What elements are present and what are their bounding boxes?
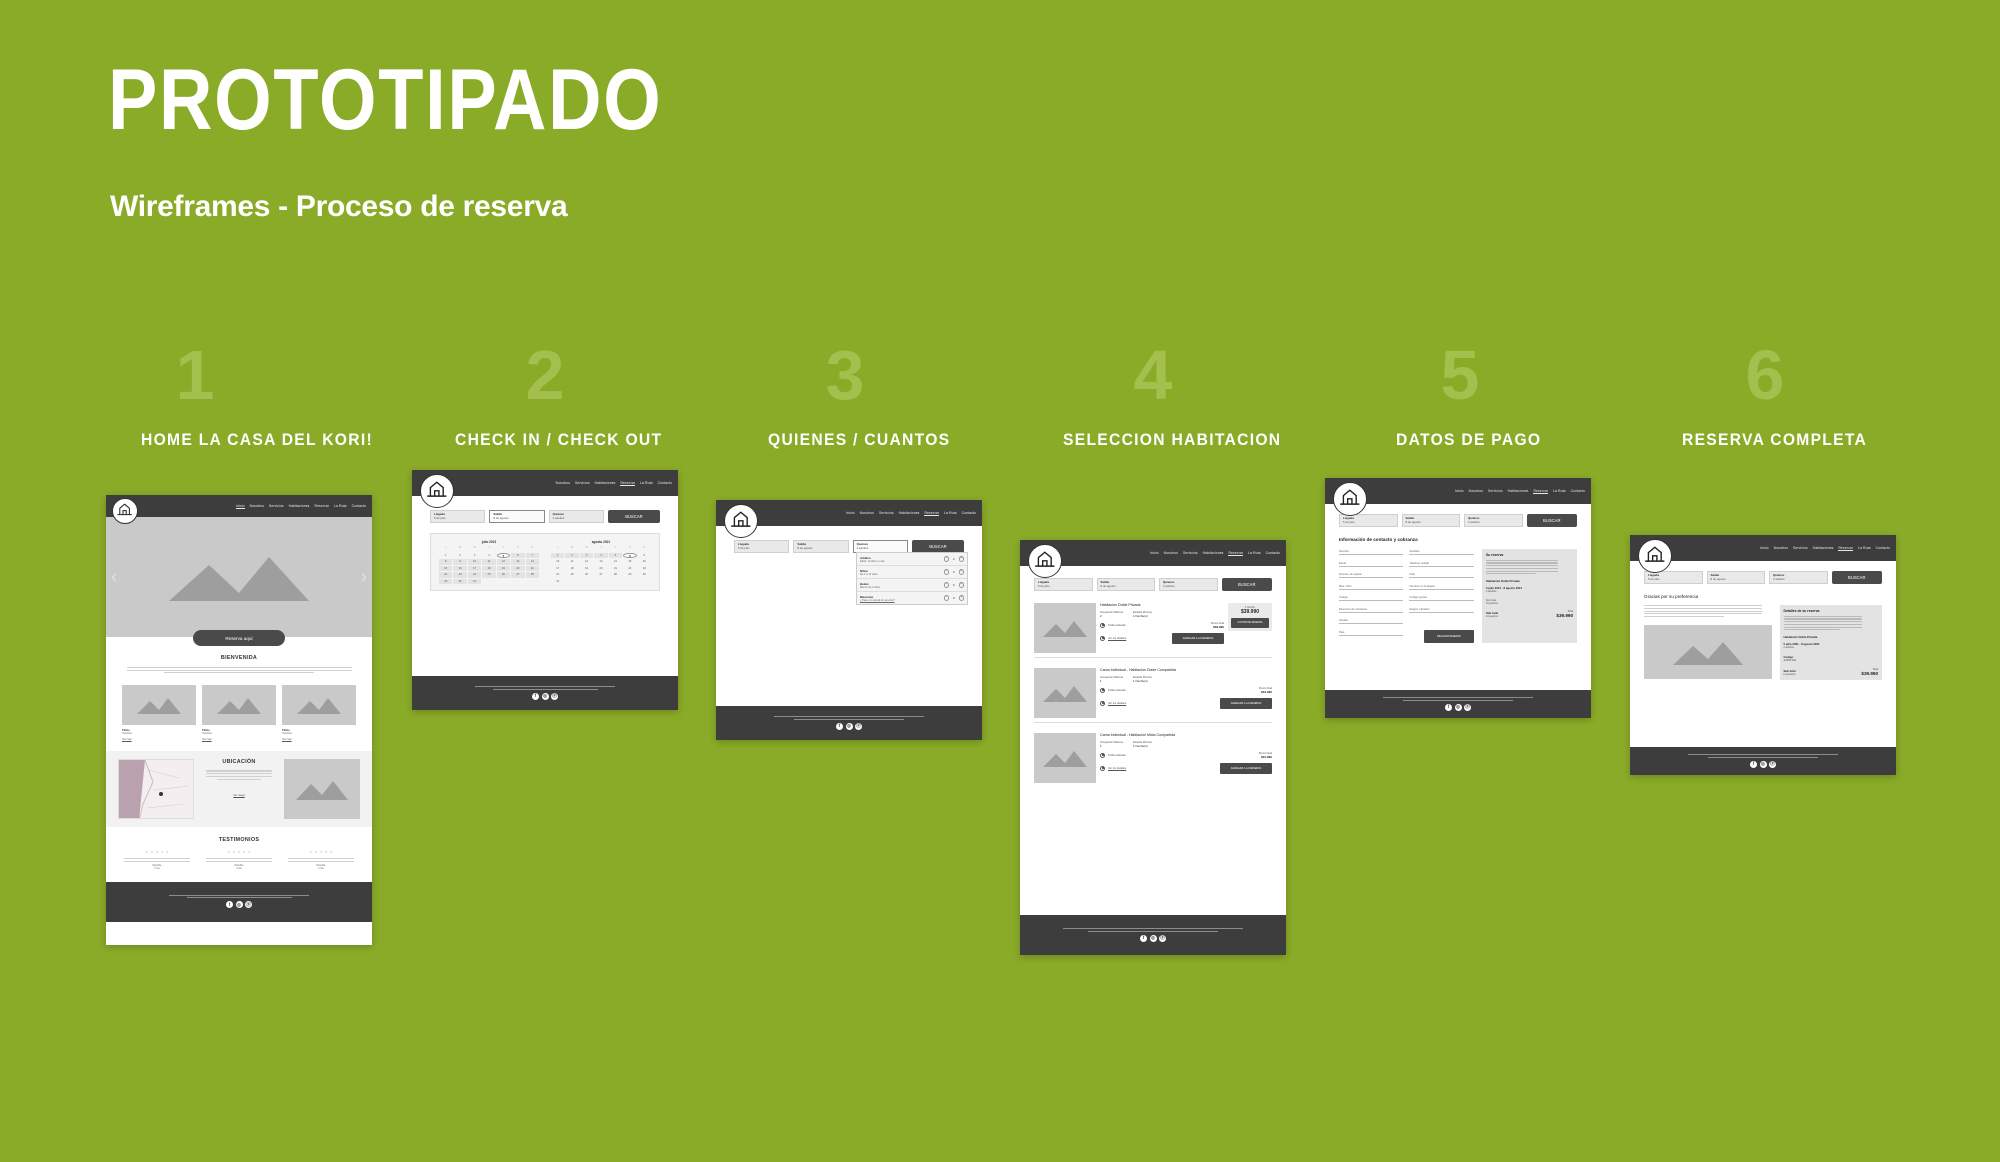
day-cell[interactable]: 19 bbox=[580, 566, 593, 572]
billing-address-field[interactable]: Direccion de cobranza bbox=[1339, 607, 1403, 613]
search-bar[interactable]: Llegada 5 de julio Salida 8 de agosto Qu… bbox=[412, 496, 678, 523]
room-card[interactable]: Cama Individual - Habitación Doble Compa… bbox=[1034, 668, 1272, 723]
day-cell[interactable]: 13 bbox=[594, 559, 607, 565]
guest-row-adultos[interactable]: Adultos Edad: 13 años o más − 2 + bbox=[857, 553, 967, 566]
room-card[interactable]: Cama Individual - Habitación Mixta Compa… bbox=[1034, 733, 1272, 787]
carousel-next-icon[interactable]: › bbox=[361, 567, 367, 588]
nav-items[interactable]: Inicio Nosotros Servicios Habitaciones R… bbox=[846, 511, 976, 516]
increment-button[interactable]: + bbox=[959, 556, 965, 562]
logo-mark-icon bbox=[1642, 543, 1668, 569]
nav-item-servicios[interactable]: Servicios bbox=[879, 511, 894, 515]
pinterest-icon[interactable]: ⓟ bbox=[855, 723, 862, 730]
step-label-wrap-2: CHECK IN / CHECK OUT bbox=[455, 430, 680, 450]
social-links[interactable]: f ◎ ⓟ bbox=[1750, 761, 1776, 768]
search-bar[interactable]: Llegada 5 de julio Salida 8 de agosto Qu… bbox=[1325, 504, 1591, 527]
la-casa-del-kori-logo[interactable] bbox=[1638, 539, 1672, 573]
day-cell[interactable]: 16 bbox=[638, 559, 651, 565]
day-cell[interactable]: 2 bbox=[565, 553, 578, 559]
nav-item-servicios[interactable]: Servicios bbox=[1488, 489, 1503, 493]
nav-item-servicios[interactable]: Servicios bbox=[575, 481, 590, 485]
nav-item-contacto[interactable]: Contacto bbox=[1571, 489, 1585, 493]
search-button[interactable]: BUSCAR bbox=[1832, 571, 1883, 584]
step-number: 6 bbox=[1710, 340, 1820, 410]
la-casa-del-kori-logo[interactable] bbox=[1028, 544, 1062, 578]
checkin-field[interactable]: Llegada 5 de julio bbox=[1644, 571, 1703, 584]
nav-item-nosotros[interactable]: Nosotros bbox=[1469, 489, 1483, 493]
placeholder-image-icon bbox=[1043, 749, 1087, 767]
checkout-field[interactable]: Salida 8 de agosto bbox=[793, 540, 848, 553]
card-link[interactable]: Ver mas bbox=[122, 738, 196, 741]
navbar[interactable]: Inicio Nosotros Servicios Habitaciones R… bbox=[716, 500, 982, 526]
day-cell[interactable]: 7 bbox=[526, 553, 539, 559]
day-cell[interactable]: 27 bbox=[594, 572, 607, 578]
step-label-wrap-6: RESERVA COMPLETA bbox=[1682, 430, 1883, 450]
search-bar[interactable]: Llegada 5 de julio Salida 8 de agosto Qu… bbox=[1020, 566, 1286, 591]
nav-item-habitaciones[interactable]: Habitaciones bbox=[1813, 546, 1834, 550]
day-cell[interactable]: 31 bbox=[468, 579, 481, 585]
stay-value: 1 Noche(s) bbox=[1133, 614, 1152, 618]
facebook-icon[interactable]: f bbox=[1750, 761, 1757, 768]
rate-row[interactable]: Tarifa estándar Precio final $39.990 bbox=[1100, 622, 1224, 629]
pinterest-icon[interactable]: ⓟ bbox=[245, 901, 252, 908]
add-to-reservation-button[interactable]: AGREGAR A LA RESERVA bbox=[1220, 698, 1272, 709]
guest-sublabel[interactable]: ¿Traes un animal de servicio? bbox=[860, 599, 895, 602]
nav-item-la-ruta[interactable]: La Ruta bbox=[334, 504, 347, 508]
lastname-field[interactable]: Apellido bbox=[1409, 549, 1473, 555]
guests-field[interactable]: Quienes 2 adultos bbox=[1464, 514, 1523, 527]
day-cell[interactable]: 26 bbox=[580, 572, 593, 578]
card-link[interactable]: Ver mas bbox=[202, 738, 276, 741]
day-cell[interactable]: 21 bbox=[526, 566, 539, 572]
welcome-body bbox=[122, 667, 356, 673]
step-label: HOME LA CASA DEL KORI! bbox=[141, 430, 373, 450]
location-link[interactable]: Ver mapa bbox=[201, 794, 277, 797]
facebook-icon[interactable]: f bbox=[1445, 704, 1452, 711]
postal-code-field[interactable]: Codigo postal bbox=[1409, 595, 1473, 601]
footer: f ◎ ⓟ bbox=[1325, 690, 1591, 718]
day-cell[interactable]: 24 bbox=[551, 572, 564, 578]
footer-text bbox=[475, 686, 615, 689]
hero-carousel[interactable]: ‹ › Reserva aquí bbox=[106, 517, 372, 637]
search-button[interactable]: BUSCAR bbox=[1527, 514, 1578, 527]
instagram-icon[interactable]: ◎ bbox=[542, 693, 549, 700]
details-total-value: Total $39.990 bbox=[1861, 668, 1878, 676]
details-row[interactable]: Ver los detalles AGREGAR A LA RESERVA bbox=[1100, 763, 1272, 774]
phone-field[interactable]: Telefono celular bbox=[1409, 561, 1473, 567]
decrement-button[interactable]: − bbox=[944, 556, 950, 562]
nav-item-nosotros[interactable]: Nosotros bbox=[556, 481, 570, 485]
day-cell[interactable]: 25 bbox=[482, 572, 495, 578]
navbar[interactable]: Inicio Nosotros Servicios Habitaciones R… bbox=[1325, 478, 1591, 504]
checkin-value: 5 de julio bbox=[1343, 521, 1394, 525]
details-room: Habitación Doble Privada bbox=[1784, 635, 1878, 639]
nav-item-reservar[interactable]: Reservar bbox=[314, 504, 329, 508]
testimonial-place: Chile bbox=[202, 867, 276, 870]
day-cell[interactable]: 1 bbox=[439, 553, 452, 559]
guest-row-mascotas[interactable]: Mascotas ¿Traes un animal de servicio? −… bbox=[857, 592, 967, 604]
capacity-value: 1 bbox=[1100, 744, 1123, 748]
dow: V bbox=[497, 546, 510, 552]
day-cell[interactable]: 21 bbox=[609, 566, 622, 572]
footer-text bbox=[774, 716, 924, 719]
day-cell[interactable]: 13 bbox=[511, 559, 524, 565]
navbar[interactable]: Inicio Nosotros Servicios Habitaciones R… bbox=[1630, 535, 1896, 561]
quantity-stepper[interactable]: − 0 + bbox=[944, 595, 965, 601]
nav-item-la-ruta[interactable]: La Ruta bbox=[944, 511, 957, 515]
day-cell[interactable]: 6 bbox=[511, 553, 524, 559]
city-field[interactable]: Ciudad bbox=[1339, 618, 1403, 624]
logo-mark-icon bbox=[115, 501, 134, 520]
guests-value: 2 adultos bbox=[1773, 578, 1824, 582]
quantity-stepper[interactable]: − 2 + bbox=[944, 556, 965, 562]
search-button[interactable]: BUSCAR bbox=[608, 510, 660, 523]
checkin-value: 5 de julio bbox=[1648, 578, 1699, 582]
nav-items[interactable]: Nosotros Servicios Habitaciones Reservar… bbox=[556, 481, 672, 486]
nav-item-reservar[interactable]: Reservar bbox=[1533, 489, 1548, 494]
decrement-button[interactable]: − bbox=[944, 569, 950, 575]
summary-tax-label: Impuestos bbox=[1486, 602, 1573, 605]
nav-item-reservar[interactable]: Reservar bbox=[620, 481, 635, 486]
footer-text bbox=[1063, 928, 1243, 931]
dow: M bbox=[468, 546, 481, 552]
nav-item-contacto[interactable]: Contacto bbox=[962, 511, 976, 515]
day-cell[interactable]: 5 bbox=[609, 553, 622, 559]
price-value: $19.990 bbox=[1259, 690, 1272, 694]
placeholder-image-icon bbox=[296, 778, 348, 800]
guest-row-bebes[interactable]: Bebés Menos de 2 años − 0 + bbox=[857, 579, 967, 592]
nav-items[interactable]: Inicio Nosotros Servicios Habitaciones R… bbox=[1455, 489, 1585, 494]
search-button[interactable]: BUSCAR bbox=[1222, 578, 1273, 591]
day-cell[interactable]: 30 bbox=[453, 579, 466, 585]
checkin-field[interactable]: Llegada 5 de julio bbox=[430, 510, 485, 523]
la-casa-del-kori-logo[interactable] bbox=[420, 474, 454, 508]
la-casa-del-kori-logo[interactable] bbox=[112, 498, 138, 524]
day-cell[interactable]: 19 bbox=[497, 566, 510, 572]
day-cell[interactable]: 15 bbox=[623, 559, 636, 565]
dow: M bbox=[453, 546, 466, 552]
quantity-stepper[interactable]: − 0 + bbox=[944, 582, 965, 588]
details-total-labels: Sub total Impuestos bbox=[1784, 669, 1796, 676]
search-bar[interactable]: Llegada 5 de julio Salida 8 de agosto Qu… bbox=[716, 526, 982, 553]
nav-item-contacto[interactable]: Contacto bbox=[352, 504, 366, 508]
instagram-icon[interactable]: ◎ bbox=[236, 901, 243, 908]
pinterest-icon[interactable]: ⓟ bbox=[1159, 935, 1166, 942]
tax-label: Impuestos bbox=[1784, 673, 1796, 676]
nav-item-reservar[interactable]: Reservar bbox=[1838, 546, 1853, 551]
social-links[interactable]: f ◎ ⓟ bbox=[1140, 935, 1166, 942]
day-cell[interactable]: 12 bbox=[497, 559, 510, 565]
rate-radio[interactable] bbox=[1100, 623, 1105, 628]
day-cell[interactable]: 26 bbox=[497, 572, 510, 578]
day-cell[interactable]: 14 bbox=[526, 559, 539, 565]
guest-label-wrap: Niños De 2 a 12 años bbox=[860, 569, 878, 576]
details-link[interactable]: Ver los detalles bbox=[1108, 637, 1126, 640]
capacity-label: Ocupación Máxima bbox=[1100, 741, 1123, 744]
rate-row[interactable]: Tarifa estándar Precio final $19.990 bbox=[1100, 687, 1272, 694]
nav-item-servicios[interactable]: Servicios bbox=[1793, 546, 1808, 550]
nav-item-inicio[interactable]: Inicio bbox=[1760, 546, 1769, 550]
capacity: Ocupación Máxima 2 bbox=[1100, 611, 1123, 618]
nav-item-nosotros[interactable]: Nosotros bbox=[1774, 546, 1788, 550]
facebook-icon[interactable]: f bbox=[532, 693, 539, 700]
facebook-icon[interactable]: f bbox=[836, 723, 843, 730]
instagram-icon[interactable]: ◎ bbox=[846, 723, 853, 730]
wireframe-3-guests[interactable]: Inicio Nosotros Servicios Habitaciones R… bbox=[716, 500, 982, 740]
social-links[interactable]: f ◎ ⓟ bbox=[836, 723, 862, 730]
nav-item-nosotros[interactable]: Nosotros bbox=[1164, 551, 1178, 555]
footer: f ◎ ⓟ bbox=[412, 676, 678, 710]
day-cell-selected-start[interactable]: 5 bbox=[497, 553, 510, 559]
nav-item-inicio[interactable]: Inicio bbox=[846, 511, 855, 515]
dow: J bbox=[482, 546, 495, 552]
list-item[interactable]: Titulo Subtitulo Ver mas bbox=[202, 685, 276, 741]
text-field[interactable]: Email bbox=[1339, 561, 1403, 567]
nav-item-habitaciones[interactable]: Habitaciones bbox=[899, 511, 920, 515]
side-price-box[interactable]: 1 Noche $39.990 CONTINUAR RESERVA bbox=[1228, 603, 1272, 631]
social-links[interactable]: f ◎ ⓟ bbox=[532, 693, 558, 700]
instagram-icon[interactable]: ◎ bbox=[1150, 935, 1157, 942]
guests-field[interactable]: Quienes 2 adultos bbox=[549, 510, 604, 523]
navbar[interactable]: Nosotros Servicios Habitaciones Reservar… bbox=[412, 470, 678, 496]
step-label: SELECCION HABITACION bbox=[1063, 430, 1281, 450]
nav-item-habitaciones[interactable]: Habitaciones bbox=[289, 504, 310, 508]
nav-item-inicio[interactable]: Inicio bbox=[1150, 551, 1159, 555]
checkout-value: 8 de agosto bbox=[1711, 578, 1762, 582]
nav-item-inicio[interactable]: Inicio bbox=[236, 504, 245, 509]
social-links[interactable]: f ◎ ⓟ bbox=[1445, 704, 1471, 711]
calendar-grid[interactable]: L M M J V S D 1234589 10111213141516 171… bbox=[551, 546, 651, 584]
day-cell[interactable]: 18 bbox=[565, 566, 578, 572]
guest-row-ninos[interactable]: Niños De 2 a 12 años − 0 + bbox=[857, 566, 967, 579]
nav-item-la-ruta[interactable]: La Ruta bbox=[640, 481, 653, 485]
day-cell[interactable]: 10 bbox=[551, 559, 564, 565]
details-link[interactable]: Ver los detalles bbox=[1108, 767, 1126, 770]
la-casa-del-kori-logo[interactable] bbox=[1333, 482, 1367, 516]
day-cell-selected-end[interactable]: 8 bbox=[623, 553, 636, 559]
day-cell[interactable]: 29 bbox=[439, 579, 452, 585]
day-cell[interactable]: 2 bbox=[453, 553, 466, 559]
checkin-value: 5 de julio bbox=[738, 547, 785, 551]
list-item[interactable]: Titulo Subtitulo Ver mas bbox=[122, 685, 196, 741]
wireframe-5-payment[interactable]: Inicio Nosotros Servicios Habitaciones R… bbox=[1325, 478, 1591, 718]
dow: L bbox=[439, 546, 452, 552]
card-link[interactable]: Ver mas bbox=[282, 738, 356, 741]
guest-selector-dropdown[interactable]: Adultos Edad: 13 años o más − 2 + Niños … bbox=[856, 552, 968, 605]
carousel-prev-icon[interactable]: ‹ bbox=[111, 567, 117, 588]
day-cell[interactable]: 9 bbox=[638, 553, 651, 559]
nav-item-la-ruta[interactable]: La Ruta bbox=[1553, 489, 1566, 493]
day-cell[interactable]: 31 bbox=[551, 579, 564, 585]
day-cell[interactable]: 23 bbox=[453, 572, 466, 578]
day-cell[interactable]: 27 bbox=[511, 572, 524, 578]
pinterest-icon[interactable]: ⓟ bbox=[1769, 761, 1776, 768]
checkout-field[interactable]: Salida 8 de agosto bbox=[1097, 578, 1156, 591]
dow: D bbox=[638, 546, 651, 552]
day-cell[interactable]: 11 bbox=[565, 559, 578, 565]
location-map-image[interactable] bbox=[118, 759, 194, 819]
day-cell[interactable]: 12 bbox=[580, 559, 593, 565]
nav-item-habitaciones[interactable]: Habitaciones bbox=[1508, 489, 1529, 493]
day-cell[interactable]: 9 bbox=[453, 559, 466, 565]
day-cell[interactable]: 18 bbox=[482, 566, 495, 572]
increment-button[interactable]: + bbox=[959, 582, 965, 588]
add-to-reservation-button[interactable]: AGREGAR A LA RESERVA bbox=[1220, 763, 1272, 774]
day-cell[interactable]: 11 bbox=[482, 559, 495, 565]
day-cell[interactable]: 22 bbox=[439, 572, 452, 578]
checkout-field[interactable]: Salida 8 de agosto bbox=[1402, 514, 1461, 527]
navbar[interactable]: Inicio Nosotros Servicios Habitaciones R… bbox=[1020, 540, 1286, 566]
reserva-aqui-button[interactable]: Reserva aquí bbox=[193, 630, 285, 646]
checkout-field[interactable]: Salida 8 de agosto bbox=[489, 510, 544, 523]
feature-cards: Titulo Subtitulo Ver mas Titulo Subtitul… bbox=[106, 681, 372, 741]
nav-item-habitaciones[interactable]: Habitaciones bbox=[595, 481, 616, 485]
dow: S bbox=[623, 546, 636, 552]
search-bar[interactable]: Llegada 5 de julio Salida 8 de agosto Qu… bbox=[1630, 561, 1896, 584]
placeholder-image-icon bbox=[1043, 684, 1087, 702]
day-cell[interactable]: 4 bbox=[594, 553, 607, 559]
day-cell[interactable]: 16 bbox=[453, 566, 466, 572]
contact-form[interactable]: Nombre Email Numero de tarjeta Mes / Año… bbox=[1339, 549, 1474, 643]
details-link[interactable]: Ver los detalles bbox=[1108, 702, 1126, 705]
day-cell[interactable]: 23 bbox=[638, 566, 651, 572]
day-cell[interactable]: 30 bbox=[638, 572, 651, 578]
la-casa-del-kori-logo[interactable] bbox=[724, 504, 758, 538]
nav-item-la-ruta[interactable]: La Ruta bbox=[1858, 546, 1871, 550]
nav-items[interactable]: Inicio Nosotros Servicios Habitaciones R… bbox=[1760, 546, 1890, 551]
wireframe-1-home[interactable]: Inicio Nosotros Servicios Habitaciones R… bbox=[106, 495, 372, 945]
country-field[interactable]: Pais bbox=[1339, 630, 1403, 636]
day-cell[interactable]: 29 bbox=[623, 572, 636, 578]
wireframe-2-checkin-checkout[interactable]: Nosotros Servicios Habitaciones Reservar… bbox=[412, 470, 678, 710]
nav-items[interactable]: Inicio Nosotros Servicios Habitaciones R… bbox=[1150, 551, 1280, 556]
nav-item-nosotros[interactable]: Nosotros bbox=[860, 511, 874, 515]
testimonial-place: Chile bbox=[120, 867, 194, 870]
step-number: 4 bbox=[1098, 340, 1208, 410]
social-links[interactable]: f ◎ ⓟ bbox=[226, 901, 252, 908]
day-cell[interactable]: 10 bbox=[468, 559, 481, 565]
nav-item-contacto[interactable]: Contacto bbox=[1266, 551, 1280, 555]
day-cell[interactable]: 20 bbox=[511, 566, 524, 572]
nav-item-servicios[interactable]: Servicios bbox=[269, 504, 284, 508]
day-cell[interactable]: 1 bbox=[551, 553, 564, 559]
day-cell[interactable]: 8 bbox=[439, 559, 452, 565]
quantity-stepper[interactable]: − 0 + bbox=[944, 569, 965, 575]
day-cell[interactable]: 14 bbox=[609, 559, 622, 565]
footer: f ◎ ⓟ bbox=[106, 882, 372, 922]
form-left-column[interactable]: Nombre Email Numero de tarjeta Mes / Año… bbox=[1339, 549, 1403, 643]
calendar-grid[interactable]: L M M J V S D 1234567 891011121314 15161… bbox=[439, 546, 539, 584]
facebook-icon[interactable]: f bbox=[226, 901, 233, 908]
rate-radio[interactable] bbox=[1100, 753, 1105, 758]
nav-item-nosotros[interactable]: Nosotros bbox=[250, 504, 264, 508]
guests-field[interactable]: Quienes 2 adultos bbox=[1769, 571, 1828, 584]
checkin-field[interactable]: Llegada 5 de julio bbox=[1339, 514, 1398, 527]
facebook-icon[interactable]: f bbox=[1140, 935, 1147, 942]
continue-reservation-button[interactable]: CONTINUAR RESERVA bbox=[1231, 618, 1269, 628]
pinterest-icon[interactable]: ⓟ bbox=[551, 693, 558, 700]
nav-item-la-ruta[interactable]: La Ruta bbox=[1248, 551, 1261, 555]
email-field[interactable]: Nombre bbox=[1339, 549, 1403, 555]
checkin-field[interactable]: Llegada 5 de julio bbox=[1034, 578, 1093, 591]
nav-item-reservar[interactable]: Reservar bbox=[924, 511, 939, 516]
day-cell[interactable]: 17 bbox=[551, 566, 564, 572]
region-field[interactable]: Region / Estado bbox=[1409, 607, 1473, 613]
day-cell[interactable]: 3 bbox=[468, 553, 481, 559]
day-cell[interactable]: 15 bbox=[439, 566, 452, 572]
nav-item-contacto[interactable]: Contacto bbox=[1876, 546, 1890, 550]
nav-item-inicio[interactable]: Inicio bbox=[1455, 489, 1464, 493]
day-cell[interactable]: 4 bbox=[482, 553, 495, 559]
instagram-icon[interactable]: ◎ bbox=[1455, 704, 1462, 711]
logo-mark-icon bbox=[728, 508, 754, 534]
step-number: 2 bbox=[490, 340, 600, 410]
guest-count: 0 bbox=[951, 595, 957, 601]
day-cell[interactable]: 22 bbox=[623, 566, 636, 572]
total-amount: $39.990 bbox=[1861, 671, 1878, 676]
checkout-value: 8 de agosto bbox=[493, 517, 540, 521]
details-row[interactable]: Ver los detalles AGREGAR A LA RESERVA bbox=[1100, 633, 1224, 644]
expiry-field[interactable]: Mes / Año bbox=[1339, 584, 1403, 590]
card-number-field[interactable]: Numero de tarjeta bbox=[1339, 572, 1403, 578]
rate-radio[interactable] bbox=[1100, 688, 1105, 693]
country-field[interactable]: Pais bbox=[1409, 572, 1473, 578]
instagram-icon[interactable]: ◎ bbox=[1760, 761, 1767, 768]
nav-item-reservar[interactable]: Reservar bbox=[1228, 551, 1243, 556]
details-row[interactable]: Ver los detalles AGREGAR A LA RESERVA bbox=[1100, 698, 1272, 709]
nav-item-contacto[interactable]: Contacto bbox=[658, 481, 672, 485]
logo-mark-icon bbox=[1032, 548, 1058, 574]
checkin-value: 5 de julio bbox=[434, 517, 481, 521]
card-name-field[interactable]: Nombre en la tarjeta bbox=[1409, 584, 1473, 590]
list-item[interactable]: Titulo Subtitulo Ver mas bbox=[282, 685, 356, 741]
guests-field[interactable]: Quienes 2 adultos bbox=[1159, 578, 1218, 591]
day-cell[interactable]: 28 bbox=[526, 572, 539, 578]
wireframe-6-confirmation[interactable]: Inicio Nosotros Servicios Habitaciones R… bbox=[1630, 535, 1896, 775]
footer: f ◎ ⓟ bbox=[1020, 915, 1286, 955]
form-right-column[interactable]: Apellido Telefono celular Pais Nombre en… bbox=[1409, 549, 1473, 643]
confirmation-text bbox=[1644, 605, 1772, 617]
room-card[interactable]: Habitación Doble Privada Ocupación Máxim… bbox=[1034, 603, 1272, 658]
rate-row[interactable]: Tarifa estándar Precio final $15.990 bbox=[1100, 752, 1272, 759]
pinterest-icon[interactable]: ⓟ bbox=[1464, 704, 1471, 711]
day-cell[interactable]: 20 bbox=[594, 566, 607, 572]
reservation-summary: Su reserva Habitación Doble Privada 5 ju… bbox=[1482, 549, 1577, 643]
add-to-reservation-button[interactable]: AGREGAR A LA RESERVA bbox=[1172, 633, 1224, 644]
day-cell[interactable]: 24 bbox=[468, 572, 481, 578]
nav-items[interactable]: Inicio Nosotros Servicios Habitaciones R… bbox=[236, 504, 366, 509]
nav-item-habitaciones[interactable]: Habitaciones bbox=[1203, 551, 1224, 555]
step-label: DATOS DE PAGO bbox=[1396, 430, 1541, 450]
navbar[interactable]: Inicio Nosotros Servicios Habitaciones R… bbox=[106, 495, 372, 517]
checkout-value: 8 de agosto bbox=[1101, 585, 1152, 589]
submit-reservation-button[interactable]: REALIZAR RESERVA bbox=[1424, 630, 1474, 643]
day-cell[interactable]: 17 bbox=[468, 566, 481, 572]
day-cell[interactable]: 25 bbox=[565, 572, 578, 578]
decrement-button[interactable]: − bbox=[944, 595, 950, 601]
increment-button[interactable]: + bbox=[959, 569, 965, 575]
map-icon bbox=[119, 760, 194, 819]
cvv-field[interactable]: Codigo bbox=[1339, 595, 1403, 601]
nav-item-servicios[interactable]: Servicios bbox=[1183, 551, 1198, 555]
wireframe-4-room-selection[interactable]: Inicio Nosotros Servicios Habitaciones R… bbox=[1020, 540, 1286, 955]
decrement-button[interactable]: − bbox=[944, 582, 950, 588]
day-cell[interactable]: 3 bbox=[580, 553, 593, 559]
day-cell[interactable]: 28 bbox=[609, 572, 622, 578]
date-range-calendar[interactable]: julio 2021 L M M J V S D 1234567 8910111… bbox=[430, 533, 660, 591]
checkout-field[interactable]: Salida 8 de agosto bbox=[1707, 571, 1766, 584]
checkin-field[interactable]: Llegada 5 de julio bbox=[734, 540, 789, 553]
increment-button[interactable]: + bbox=[959, 595, 965, 601]
